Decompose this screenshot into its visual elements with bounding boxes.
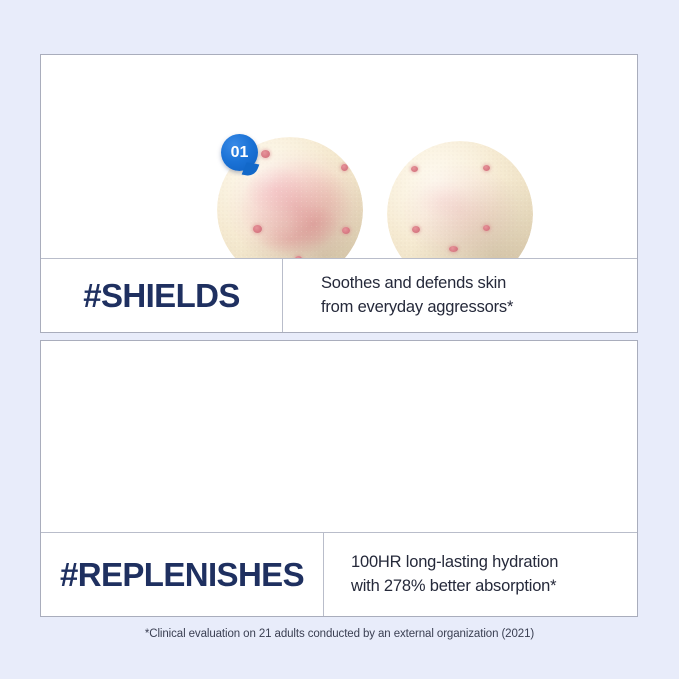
replenishes-description-cell: 100HR long-lasting hydration with 278% b…: [324, 533, 637, 616]
blemish-spot: [342, 227, 350, 234]
blemish-spot: [483, 165, 490, 171]
shields-description: Soothes and defends skin from everyday a…: [321, 272, 513, 319]
step-badge-01: 01: [221, 134, 258, 171]
shields-description-cell: Soothes and defends skin from everyday a…: [283, 259, 637, 332]
replenishes-description-line-1: 100HR long-lasting hydration: [351, 551, 558, 574]
thermal-comparison-panel: 02 대조상품 더마사이클: [41, 341, 637, 533]
before-after-photo-panel: 01 Before After: [41, 55, 637, 259]
benefit-card-shields: 01 Before After #SHIELDS Soothes and def…: [40, 54, 638, 333]
replenishes-caption-row: #REPLENISHES 100HR long-lasting hydratio…: [41, 532, 637, 616]
replenishes-hashtag: #REPLENISHES: [60, 558, 304, 591]
product-benefit-infographic: 01 Before After #SHIELDS Soothes and def…: [0, 0, 679, 679]
after-skin-photo: [387, 141, 533, 259]
blemish-spot: [253, 225, 262, 233]
blemish-spot: [261, 150, 270, 158]
benefit-card-replenishes: 02 대조상품 더마사이클 #REPLENISHES 100HR long-la…: [40, 340, 638, 617]
skin-shading-layer: [387, 141, 533, 259]
replenishes-hashtag-cell: #REPLENISHES: [41, 533, 324, 616]
shields-caption-row: #SHIELDS Soothes and defends skin from e…: [41, 258, 637, 332]
shields-hashtag: #SHIELDS: [83, 279, 240, 312]
replenishes-description-line-2: with 278% better absorption*: [351, 575, 558, 598]
clinical-footnote: *Clinical evaluation on 21 adults conduc…: [0, 628, 679, 640]
blemish-spot: [449, 246, 458, 252]
replenishes-description: 100HR long-lasting hydration with 278% b…: [351, 551, 558, 598]
blemish-spot: [412, 226, 420, 233]
blemish-spot: [483, 225, 490, 231]
shields-hashtag-cell: #SHIELDS: [41, 259, 283, 332]
shields-description-line-2: from everyday aggressors*: [321, 296, 513, 319]
blemish-spot: [341, 164, 348, 171]
shields-description-line-1: Soothes and defends skin: [321, 272, 513, 295]
blemish-spot: [411, 166, 418, 172]
